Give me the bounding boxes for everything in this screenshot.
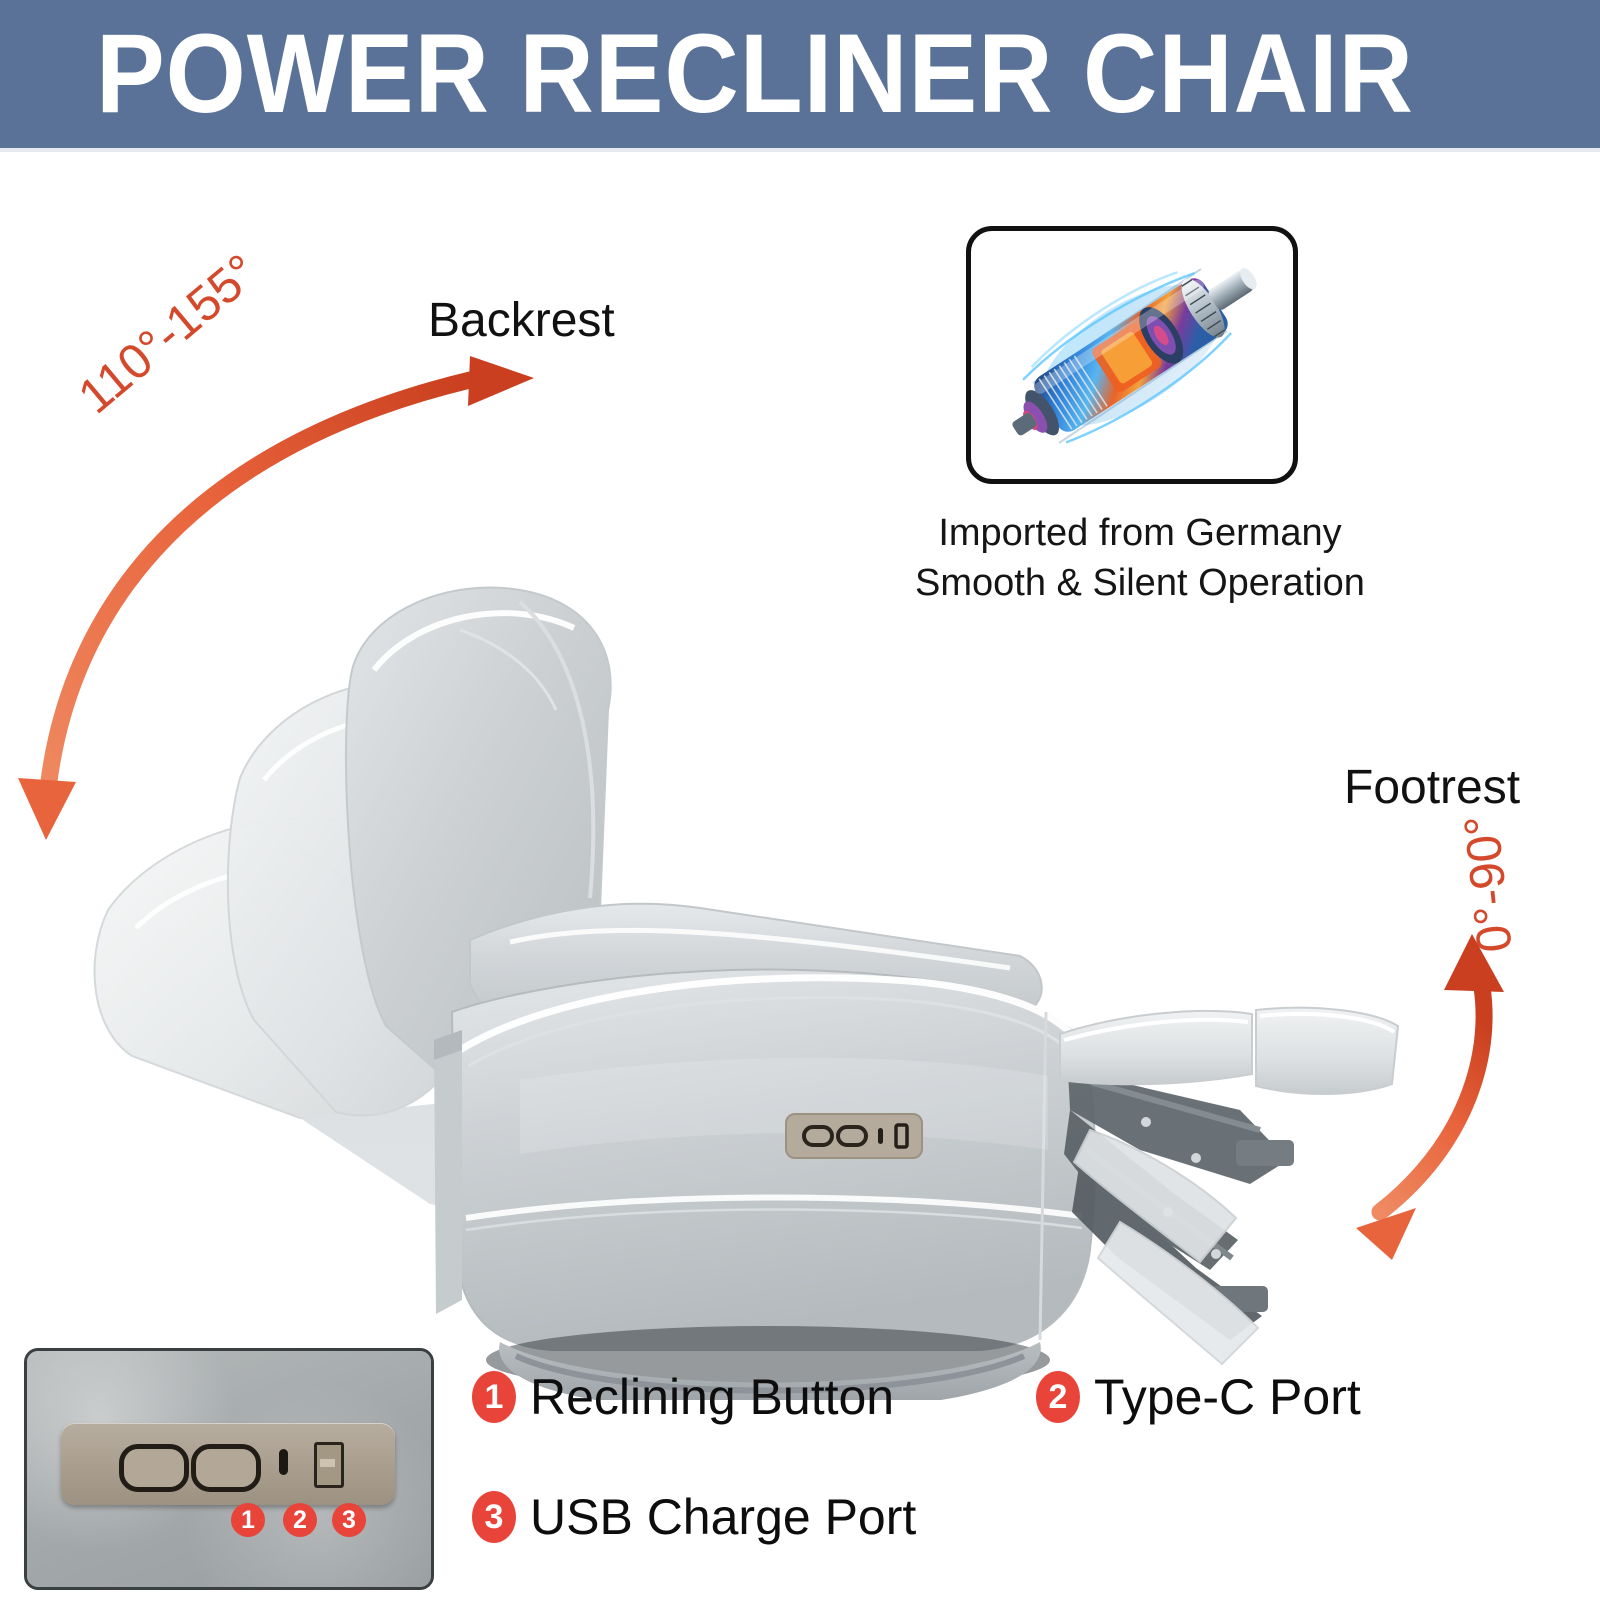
motor-caption-line2: Smooth & Silent Operation xyxy=(890,558,1390,608)
usb-charge-port[interactable] xyxy=(314,1442,344,1488)
legend-label-3: USB Charge Port xyxy=(530,1488,916,1546)
motor-inset-box xyxy=(966,226,1298,484)
control-panel-inset: 1 2 3 xyxy=(24,1348,434,1590)
type-c-slot-icon xyxy=(878,1128,883,1144)
electric-motor-cutaway-icon xyxy=(971,231,1293,479)
motor-caption: Imported from Germany Smooth & Silent Op… xyxy=(890,508,1390,608)
footrest-label: Footrest xyxy=(1344,760,1520,815)
armrest-front-edge xyxy=(434,1030,462,1314)
reclining-button-right[interactable] xyxy=(191,1444,261,1492)
legend-item-type-c-port: 2 Type-C Port xyxy=(1036,1368,1361,1426)
legend-badge-3: 3 xyxy=(472,1491,516,1543)
footrest-extended xyxy=(1060,1008,1398,1094)
reclining-button-left[interactable] xyxy=(119,1444,189,1492)
control-plate[interactable] xyxy=(61,1423,395,1505)
header-banner: POWER RECLINER CHAIR xyxy=(0,0,1600,148)
inset-marker-2: 2 xyxy=(283,1503,317,1537)
backrest-label: Backrest xyxy=(428,293,615,348)
type-c-port[interactable] xyxy=(279,1449,288,1475)
legend-label-2: Type-C Port xyxy=(1094,1368,1361,1426)
legend-item-reclining-button: 1 Reclining Button xyxy=(472,1368,894,1426)
legend-badge-1: 1 xyxy=(472,1371,516,1423)
chair-control-strip[interactable] xyxy=(786,1114,922,1158)
motor-caption-line1: Imported from Germany xyxy=(890,508,1390,558)
inset-marker-1: 1 xyxy=(231,1503,265,1537)
chair-body xyxy=(452,970,1095,1350)
footrest-angle-arrow xyxy=(1356,934,1504,1260)
inset-marker-3: 3 xyxy=(332,1503,366,1537)
legend-item-usb-charge-port: 3 USB Charge Port xyxy=(472,1488,916,1546)
legend-label-1: Reclining Button xyxy=(530,1368,894,1426)
page-title: POWER RECLINER CHAIR xyxy=(96,18,1414,130)
legend-badge-2: 2 xyxy=(1036,1371,1080,1423)
